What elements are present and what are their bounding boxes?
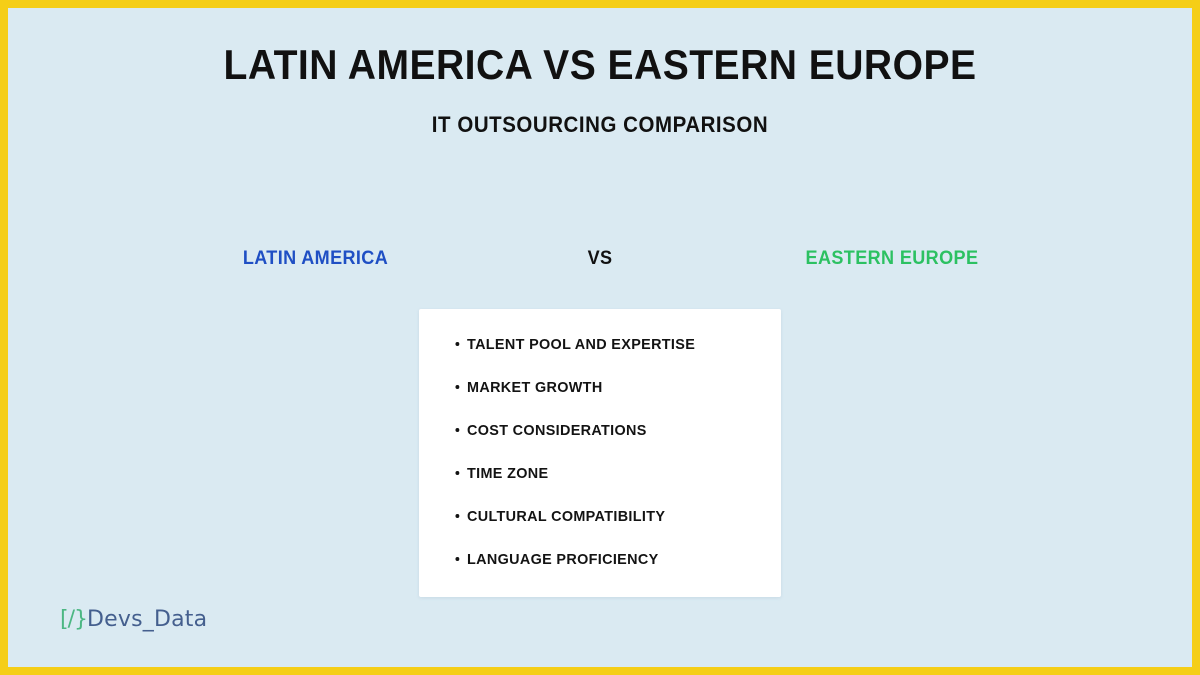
list-item: TALENT POOL AND EXPERTISE bbox=[419, 336, 767, 379]
list-item: MARKET GROWTH bbox=[419, 379, 767, 422]
list-item-label: CULTURAL COMPATIBILITY bbox=[467, 508, 665, 525]
bullet-icon bbox=[455, 342, 459, 346]
comparison-headers: LATIN AMERICA VS EASTERN EUROPE bbox=[8, 244, 1192, 274]
page-subtitle: IT OUTSOURCING COMPARISON bbox=[49, 114, 1150, 136]
list-item: TIME ZONE bbox=[419, 465, 767, 508]
slide-frame: LATIN AMERICA VS EASTERN EUROPE IT OUTSO… bbox=[0, 0, 1200, 675]
brand-logo: [/}Devs_Data bbox=[60, 608, 207, 631]
criteria-list: TALENT POOL AND EXPERTISE MARKET GROWTH … bbox=[419, 309, 781, 594]
page-title: LATIN AMERICA VS EASTERN EUROPE bbox=[49, 44, 1150, 86]
brand-wordmark: Devs_Data bbox=[87, 607, 207, 632]
bullet-icon bbox=[455, 385, 459, 389]
criteria-card: TALENT POOL AND EXPERTISE MARKET GROWTH … bbox=[419, 309, 781, 597]
list-item: COST CONSIDERATIONS bbox=[419, 422, 767, 465]
list-item-label: TALENT POOL AND EXPERTISE bbox=[467, 336, 695, 353]
list-item: CULTURAL COMPATIBILITY bbox=[419, 508, 767, 551]
list-item: LANGUAGE PROFICIENCY bbox=[419, 551, 767, 594]
slide-canvas: LATIN AMERICA VS EASTERN EUROPE IT OUTSO… bbox=[8, 8, 1192, 667]
bullet-icon bbox=[455, 514, 459, 518]
list-item-label: COST CONSIDERATIONS bbox=[467, 422, 647, 439]
column-header-eastern-europe: EASTERN EUROPE bbox=[806, 244, 979, 274]
list-item-label: TIME ZONE bbox=[467, 465, 548, 482]
list-item-label: LANGUAGE PROFICIENCY bbox=[467, 551, 659, 568]
column-header-versus: VS bbox=[38, 244, 1163, 274]
bullet-icon bbox=[455, 428, 459, 432]
list-item-label: MARKET GROWTH bbox=[467, 379, 603, 396]
bullet-icon bbox=[455, 471, 459, 475]
bullet-icon bbox=[455, 557, 459, 561]
code-brackets-icon: [/} bbox=[60, 607, 87, 632]
